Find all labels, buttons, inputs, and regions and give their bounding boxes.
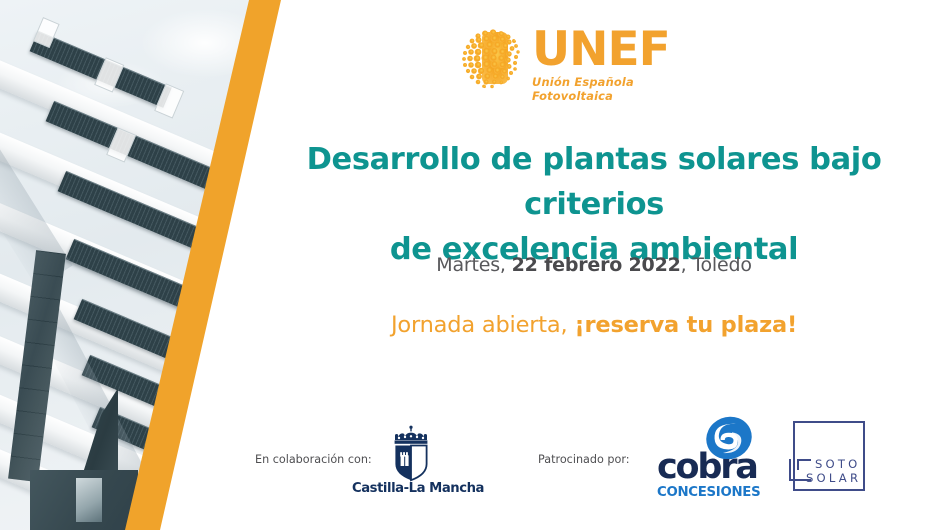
logo-castilla-la-mancha: Castilla-La Mancha [352, 424, 472, 500]
soto-step-shape [797, 459, 811, 470]
subtitle-date: 22 febrero 2022 [512, 254, 681, 276]
page-title: Desarrollo de plantas solares bajo crite… [258, 137, 930, 272]
subtitle-prefix: Martes, [436, 254, 511, 276]
soto-line-1: SOTO [815, 457, 861, 471]
unef-wordmark: UNEF Unión Española Fotovoltaica [532, 26, 686, 103]
clm-logo-text: Castilla-La Mancha [352, 481, 472, 496]
cta-prefix: Jornada abierta, [391, 312, 574, 338]
hero-artwork [0, 0, 300, 530]
halftone-sphere-icon [456, 26, 528, 92]
title-line-1: Desarrollo de plantas solares bajo crite… [307, 142, 882, 222]
event-poster: UNEF Unión Española Fotovoltaica Desarro… [0, 0, 944, 530]
soto-line-2: SOLAR [806, 471, 861, 485]
sponsor-label: Patrocinado por: [538, 453, 630, 466]
logo-soto-solar: SOTO SOLAR [789, 421, 867, 493]
cobra-subtitle: CONCESIONES [657, 486, 765, 500]
subtitle-suffix: , Toledo [681, 254, 752, 276]
cobra-wordmark: cobra [657, 449, 765, 485]
logo-cobra: cobra CONCESIONES [657, 415, 765, 497]
unef-logo: UNEF Unión Española Fotovoltaica [456, 22, 686, 94]
cta-text[interactable]: Jornada abierta, ¡reserva tu plaza! [258, 312, 930, 338]
unef-name: UNEF [532, 26, 686, 74]
cta-highlight: ¡reserva tu plaza! [574, 312, 797, 338]
shield-crown-castle-icon [382, 424, 440, 482]
event-date-location: Martes, 22 febrero 2022, Toledo [258, 254, 930, 276]
base-window [76, 478, 102, 522]
unef-tagline: Unión Española Fotovoltaica [532, 75, 686, 103]
